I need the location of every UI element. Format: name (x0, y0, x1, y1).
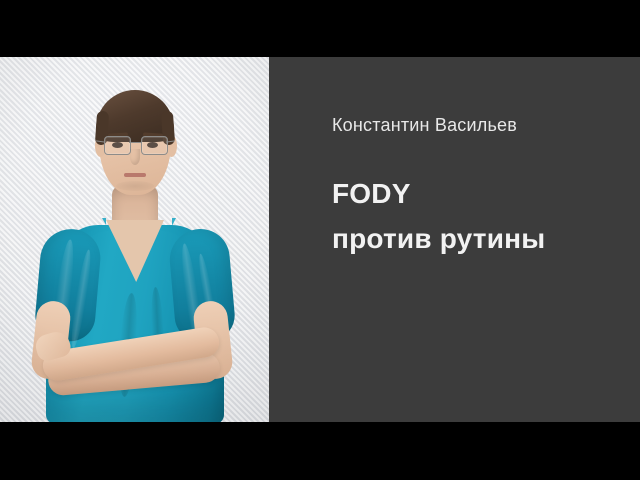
letterbox-bar-bottom (0, 422, 640, 480)
talk-title-line-2: против рутины (332, 216, 632, 261)
talk-title-line-1: FODY (332, 171, 632, 216)
letterbox-bar-top (0, 0, 640, 57)
video-title-card: Константин Васильев FODY против рутины (0, 0, 640, 480)
content-band: Константин Васильев FODY против рутины (0, 57, 640, 422)
photo-vignette (0, 57, 269, 422)
talk-title: FODY против рутины (332, 171, 632, 261)
title-text-panel: Константин Васильев FODY против рутины (269, 57, 640, 422)
presenter-photo-panel (0, 57, 269, 422)
presenter-name: Константин Васильев (332, 115, 517, 136)
